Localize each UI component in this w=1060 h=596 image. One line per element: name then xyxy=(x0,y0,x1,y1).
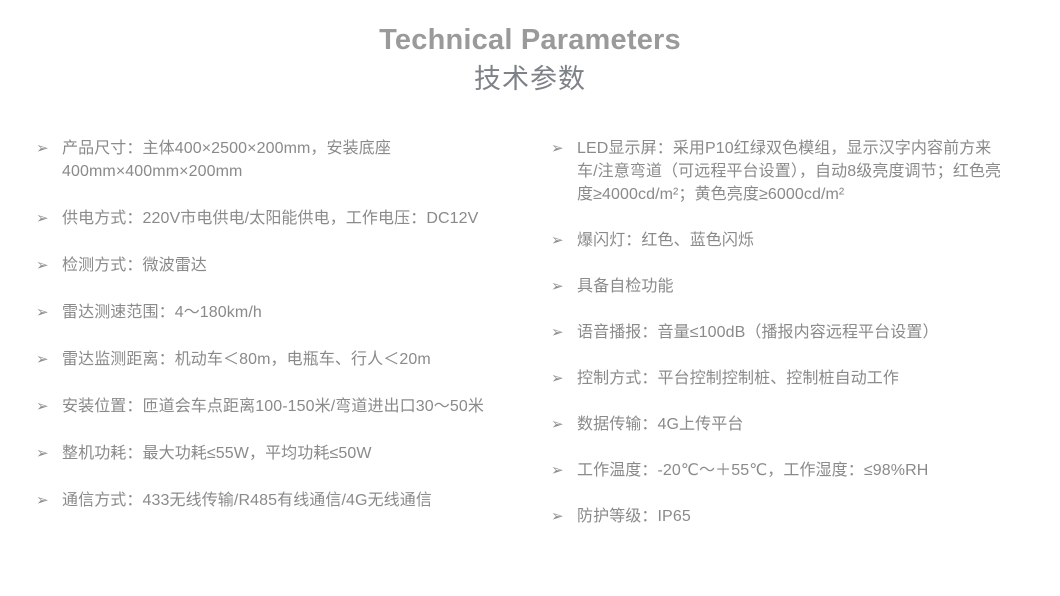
list-item: ➢ 语音播报：音量≤100dB（播报内容远程平台设置） xyxy=(551,321,1060,344)
spec-text: 雷达监测距离：机动车＜80m，电瓶车、行人＜20m xyxy=(62,348,525,371)
list-item: ➢ 防护等级：IP65 xyxy=(551,505,1060,528)
list-item: ➢ 数据传输：4G上传平台 xyxy=(551,413,1060,436)
list-item: ➢ 整机功耗：最大功耗≤55W，平均功耗≤50W xyxy=(36,442,525,465)
spec-text: 供电方式：220V市电供电/太阳能供电，工作电压：DC12V xyxy=(62,207,525,230)
arrow-bullet-icon: ➢ xyxy=(551,505,577,528)
arrow-bullet-icon: ➢ xyxy=(36,348,62,371)
page-title-chinese: 技术参数 xyxy=(0,61,1060,97)
arrow-bullet-icon: ➢ xyxy=(36,137,62,160)
arrow-bullet-icon: ➢ xyxy=(36,395,62,418)
spec-text: 具备自检功能 xyxy=(577,275,1007,298)
arrow-bullet-icon: ➢ xyxy=(36,442,62,465)
arrow-bullet-icon: ➢ xyxy=(36,301,62,324)
list-item: ➢ 具备自检功能 xyxy=(551,275,1060,298)
arrow-bullet-icon: ➢ xyxy=(551,321,577,344)
arrow-bullet-icon: ➢ xyxy=(551,137,577,160)
spec-text: 产品尺寸：主体400×2500×200mm，安装底座 400mm×400mm×2… xyxy=(62,137,525,183)
list-item: ➢ 控制方式：平台控制控制桩、控制桩自动工作 xyxy=(551,367,1060,390)
spec-text: 安装位置：匝道会车点距离100-150米/弯道进出口30～50米 xyxy=(62,395,525,418)
list-item: ➢ 工作温度：-20℃～＋55℃，工作湿度：≤98%RH xyxy=(551,459,1060,482)
spec-text: 通信方式：433无线传输/R485有线通信/4G无线通信 xyxy=(62,489,525,512)
page-title-english: Technical Parameters xyxy=(0,22,1060,58)
list-item: ➢ 爆闪灯：红色、蓝色闪烁 xyxy=(551,229,1060,252)
arrow-bullet-icon: ➢ xyxy=(551,229,577,252)
list-item: ➢ 通信方式：433无线传输/R485有线通信/4G无线通信 xyxy=(36,489,525,512)
spec-text: 语音播报：音量≤100dB（播报内容远程平台设置） xyxy=(577,321,1007,344)
spec-column-right: ➢ LED显示屏：采用P10红绿双色模组，显示汉字内容前方来车/注意弯道（可远程… xyxy=(525,137,1060,551)
spec-columns: ➢ 产品尺寸：主体400×2500×200mm，安装底座 400mm×400mm… xyxy=(0,137,1060,551)
arrow-bullet-icon: ➢ xyxy=(36,254,62,277)
spec-text: 防护等级：IP65 xyxy=(577,505,1007,528)
spec-text: 控制方式：平台控制控制桩、控制桩自动工作 xyxy=(577,367,1007,390)
list-item: ➢ 产品尺寸：主体400×2500×200mm，安装底座 400mm×400mm… xyxy=(36,137,525,183)
arrow-bullet-icon: ➢ xyxy=(551,367,577,390)
arrow-bullet-icon: ➢ xyxy=(551,275,577,298)
list-item: ➢ 检测方式：微波雷达 xyxy=(36,254,525,277)
arrow-bullet-icon: ➢ xyxy=(551,413,577,436)
list-item: ➢ LED显示屏：采用P10红绿双色模组，显示汉字内容前方来车/注意弯道（可远程… xyxy=(551,137,1060,206)
spec-text: LED显示屏：采用P10红绿双色模组，显示汉字内容前方来车/注意弯道（可远程平台… xyxy=(577,137,1007,206)
spec-text: 爆闪灯：红色、蓝色闪烁 xyxy=(577,229,1007,252)
list-item: ➢ 雷达监测距离：机动车＜80m，电瓶车、行人＜20m xyxy=(36,348,525,371)
spec-text: 数据传输：4G上传平台 xyxy=(577,413,1007,436)
spec-column-left: ➢ 产品尺寸：主体400×2500×200mm，安装底座 400mm×400mm… xyxy=(0,137,525,536)
spec-text: 整机功耗：最大功耗≤55W，平均功耗≤50W xyxy=(62,442,525,465)
spec-text: 工作温度：-20℃～＋55℃，工作湿度：≤98%RH xyxy=(577,459,1007,482)
arrow-bullet-icon: ➢ xyxy=(36,207,62,230)
arrow-bullet-icon: ➢ xyxy=(36,489,62,512)
list-item: ➢ 雷达测速范围：4～180km/h xyxy=(36,301,525,324)
list-item: ➢ 供电方式：220V市电供电/太阳能供电，工作电压：DC12V xyxy=(36,207,525,230)
spec-text: 检测方式：微波雷达 xyxy=(62,254,525,277)
list-item: ➢ 安装位置：匝道会车点距离100-150米/弯道进出口30～50米 xyxy=(36,395,525,418)
page-heading: Technical Parameters 技术参数 xyxy=(0,0,1060,97)
arrow-bullet-icon: ➢ xyxy=(551,459,577,482)
technical-parameters-page: Technical Parameters 技术参数 ➢ 产品尺寸：主体400×2… xyxy=(0,0,1060,596)
spec-text: 雷达测速范围：4～180km/h xyxy=(62,301,525,324)
